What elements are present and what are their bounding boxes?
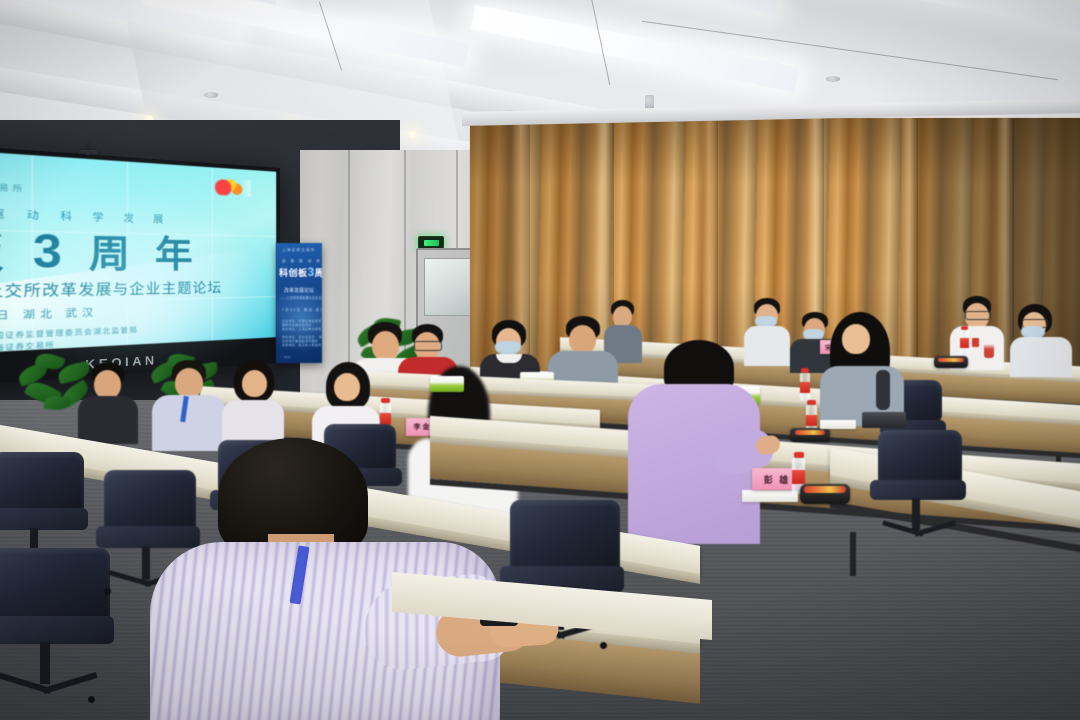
linear-light-panel [471,5,800,93]
screen-title-number: 3 [33,226,70,278]
lunch-box [934,356,968,368]
attendee-long-hair-mid [820,312,906,424]
notepad [820,420,856,429]
screen-tile-seam [212,167,213,340]
banner-title-prefix: 科创板 [279,268,308,278]
tissue-box [430,376,464,392]
banner-title-number: 3 [308,265,315,279]
fruit [804,486,846,493]
chair-backrest [878,430,962,486]
chair-post [912,498,920,530]
notepad [742,490,798,502]
screen-tile-seam [32,155,33,350]
head [175,368,203,398]
door-glass-panel [424,258,474,316]
screen-surface: 上海证券交易所 创 新 驱 动 科 学 发 展 创 板 3 周 年 科创板——上… [0,148,276,356]
head [334,373,360,401]
screen-tile-seam [127,162,128,345]
bottle-label [792,470,805,484]
chair-backrest [0,452,84,514]
banner-bullet: 主办单位：中国证券监督管理委员会湖北监管局 [282,319,322,327]
banner-header: 上海证券交易所 [282,248,316,253]
chair-backrest [510,500,620,574]
chair-post [142,546,150,580]
banner-bullet: 承办单位：上海证券交易所 [282,327,322,331]
bottle-label [806,415,817,426]
banner-meta: 7月22日 湖北 武汉 [282,307,322,312]
face-mask [495,341,521,355]
lunch-box-food [938,358,964,362]
water-bottle [960,326,969,356]
banner-bullet: 支持单位：武汉市人民政府 [282,343,322,347]
conference-room-photo: 上海证券交易所 创 新 驱 动 科 学 发 展 创 板 3 周 年 科创板——上… [0,0,1080,720]
chair-seat [0,616,114,644]
screen-title: 创 板 3 周 年 [0,217,199,281]
banner-bullet: 协办单位：湖北证监局 · 湖北省地方金融监督管理局 [282,335,322,343]
device-case [862,412,906,428]
chair-seat [870,480,966,500]
backpack-strap [876,370,890,410]
eyeglasses-icon [965,311,991,320]
lanyard-badge [972,338,979,347]
bottle-label [960,338,969,348]
banner-eyebrow: 创 新 驱 动 科 学 发 展 [282,259,322,264]
head [372,331,399,361]
banner-subtitle2: ——上交所改革发展与企业主题论坛 [280,295,322,300]
chair-caster [600,642,607,649]
linear-light-panel [520,0,779,15]
torso [1010,337,1072,377]
sprinkler-head-icon [645,95,654,109]
banner-title-suffix: 周年 [315,268,322,278]
linear-light-panel [800,0,1080,34]
bottle-label [800,382,810,393]
office-chair[interactable] [870,430,980,570]
fruit-bowl [800,484,850,504]
chair-leg [914,520,956,536]
screen-kicker-text: 上海证券交易所 [0,178,26,195]
smoke-detector-icon [204,92,218,98]
exchange-logo-icon [214,178,251,197]
chair-post [40,642,50,684]
smoke-detector-icon [826,76,840,82]
chair-backrest [0,548,110,624]
lunch-box-food [795,430,825,435]
chair-seat [0,508,88,530]
head [94,370,121,399]
head [242,370,267,397]
banner-title: 科创板3周年 [279,265,322,279]
name-placard-text: 彭 雄 [764,473,791,486]
screen-title-suffix: 周 年 [89,233,199,276]
water-bottle [800,368,810,400]
paper-cup [984,344,994,358]
chair-caster [104,588,111,595]
banner-subtitle: 改革发展论坛 [284,287,314,294]
rollup-banner: 上海证券交易所 创 新 驱 动 科 学 发 展 科创板3周年 改革发展论坛 ——… [276,243,322,363]
plant-leaf [43,395,70,412]
chair-leg [42,672,97,694]
attendee-far-right-woman [1010,304,1076,374]
downlight-icon [406,130,419,139]
chair-caster [88,696,95,703]
screen-title-mid: 板 [0,230,12,277]
head [842,324,870,354]
banner-footer: 2022 [284,355,291,359]
head [569,325,596,354]
eyeglasses-icon [414,341,442,351]
